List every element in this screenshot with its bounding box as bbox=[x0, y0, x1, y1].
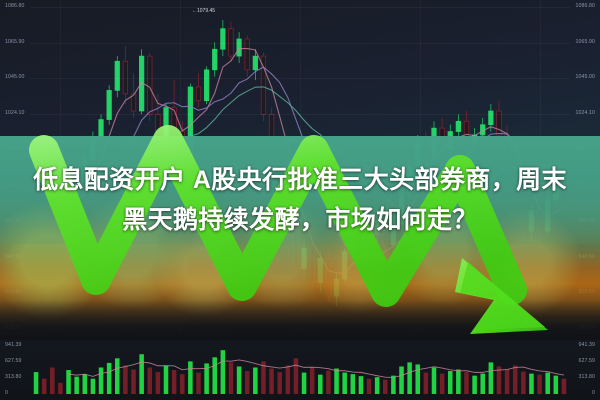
headline-line-2: 黑天鹅持续发酵，市场如何走？ bbox=[0, 200, 600, 240]
headline-line-1: 低息配资开户 A股央行批准三大头部券商，周末 bbox=[0, 160, 600, 200]
headline-text: 低息配资开户 A股央行批准三大头部券商，周末 黑天鹅持续发酵，市场如何走？ bbox=[0, 160, 600, 240]
chart-screenshot: 1086.801086.801065.901065.901045.001045.… bbox=[0, 0, 600, 400]
